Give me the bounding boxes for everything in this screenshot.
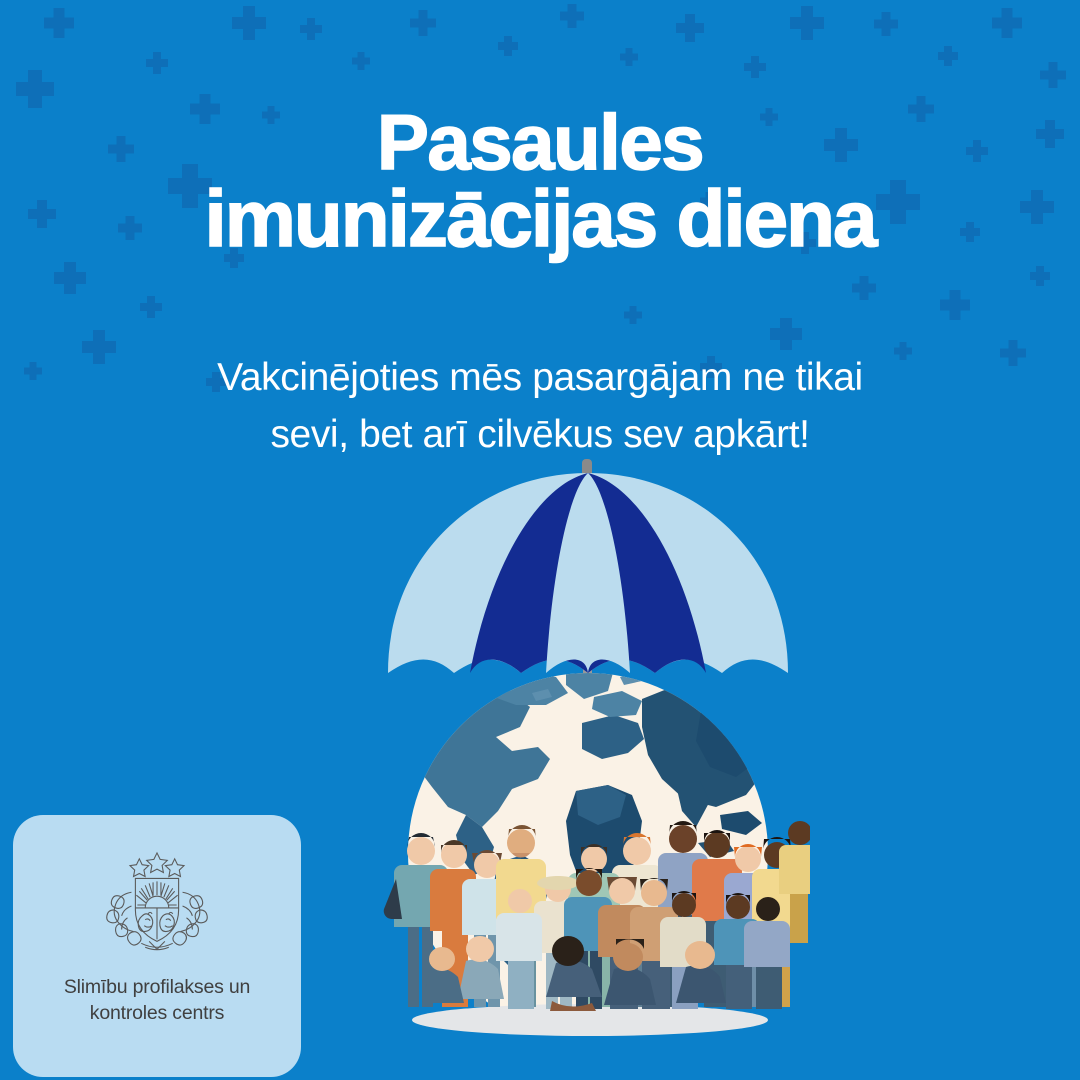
medical-cross-icon (498, 36, 518, 56)
page-title: Pasaules imunizācijas diena (0, 104, 1080, 259)
medical-cross-icon (54, 262, 86, 294)
medical-cross-icon (744, 56, 766, 78)
organization-name: Slimību profilakses un kontroles centrs (64, 975, 250, 1026)
medical-cross-icon (676, 14, 704, 42)
organization-name-line-2: kontroles centrs (64, 1001, 250, 1027)
medical-cross-icon (16, 70, 54, 108)
medical-cross-icon (146, 52, 168, 74)
poster-canvas: Pasaules imunizācijas diena Vakcinējotie… (0, 0, 1080, 1080)
medical-cross-icon (352, 52, 370, 70)
medical-cross-icon (852, 276, 876, 300)
umbrella-canopy (388, 473, 788, 673)
title-line-2: imunizācijas diena (0, 180, 1080, 258)
medical-cross-icon (44, 8, 74, 38)
title-line-1: Pasaules (0, 104, 1080, 180)
medical-cross-icon (410, 10, 436, 36)
medical-cross-icon (232, 6, 266, 40)
latvia-coat-of-arms-icon (98, 849, 216, 961)
subtitle-line-1: Vakcinējoties mēs pasargājam ne tikai (0, 350, 1080, 407)
medical-cross-icon (790, 6, 824, 40)
umbrella-globe-crowd-illustration (370, 455, 810, 1055)
subtitle: Vakcinējoties mēs pasargājam ne tikai se… (0, 350, 1080, 463)
medical-cross-icon (940, 290, 970, 320)
crowd-of-people (384, 821, 810, 1036)
medical-cross-icon (624, 306, 642, 324)
medical-cross-icon (874, 12, 898, 36)
organization-logo-card[interactable]: Slimību profilakses un kontroles centrs (13, 815, 301, 1077)
medical-cross-icon (620, 48, 638, 66)
medical-cross-icon (300, 18, 322, 40)
organization-name-line-1: Slimību profilakses un (64, 975, 250, 1001)
medical-cross-icon (1030, 266, 1050, 286)
medical-cross-icon (992, 8, 1022, 38)
medical-cross-icon (938, 46, 958, 66)
medical-cross-icon (1040, 62, 1066, 88)
medical-cross-icon (770, 318, 802, 350)
medical-cross-icon (560, 4, 584, 28)
medical-cross-icon (140, 296, 162, 318)
